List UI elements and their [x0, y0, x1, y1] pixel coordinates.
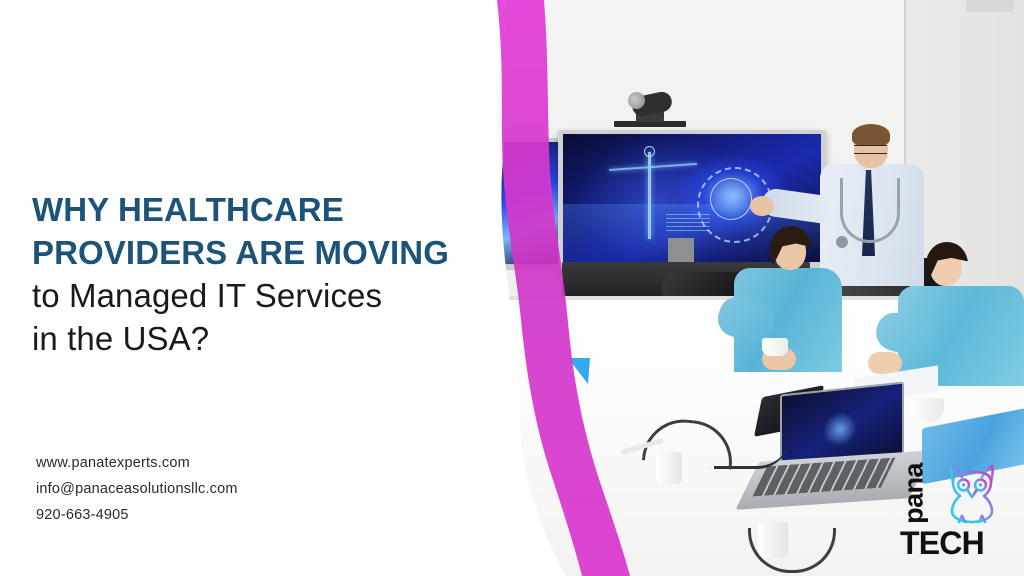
- hologram-arms: [609, 163, 697, 171]
- contact-details: www.panatexperts.com info@panaceasolutio…: [36, 450, 238, 528]
- blue-accent-shape: [568, 358, 590, 384]
- hologram-head: [644, 146, 655, 157]
- doctor-pointing-hand: [750, 196, 774, 216]
- hologram-body: [648, 152, 651, 239]
- email-address[interactable]: info@panaceasolutionsllc.com: [36, 476, 238, 502]
- panatech-logo[interactable]: pana TECH: [898, 460, 1002, 562]
- hologram-inner-ring: [710, 178, 752, 220]
- coffee-cup: [762, 338, 788, 356]
- nurse-two-hand: [868, 352, 902, 374]
- hologram-data-grid: [666, 213, 710, 231]
- promotional-banner: WHY HEALTHCARE PROVIDERS ARE MOVING to M…: [0, 0, 1024, 576]
- owl-icon: [942, 462, 1002, 524]
- stethoscope-bell: [836, 236, 848, 248]
- headline-line-2: PROVIDERS ARE MOVING: [32, 231, 502, 274]
- logo-word-pana: pana: [899, 462, 930, 526]
- website-url[interactable]: www.panatexperts.com: [36, 450, 238, 476]
- logo-word-tech: TECH: [900, 525, 984, 562]
- headline-line-3: to Managed IT Services: [32, 274, 502, 317]
- coffee-cup: [910, 398, 944, 422]
- stethoscope-icon: [840, 178, 900, 243]
- headline-line-4: in the USA?: [32, 317, 502, 360]
- headline-line-1: WHY HEALTHCARE: [32, 188, 502, 231]
- coffee-cup: [758, 522, 788, 558]
- ceiling-vent: [966, 0, 1014, 12]
- text-panel: WHY HEALTHCARE PROVIDERS ARE MOVING to M…: [0, 0, 500, 576]
- coffee-cup: [656, 452, 682, 484]
- phone-number[interactable]: 920-663-4905: [36, 502, 238, 528]
- eyeglasses-icon: [854, 145, 887, 154]
- page-title: WHY HEALTHCARE PROVIDERS ARE MOVING to M…: [32, 188, 502, 360]
- doctor-hair: [852, 124, 890, 146]
